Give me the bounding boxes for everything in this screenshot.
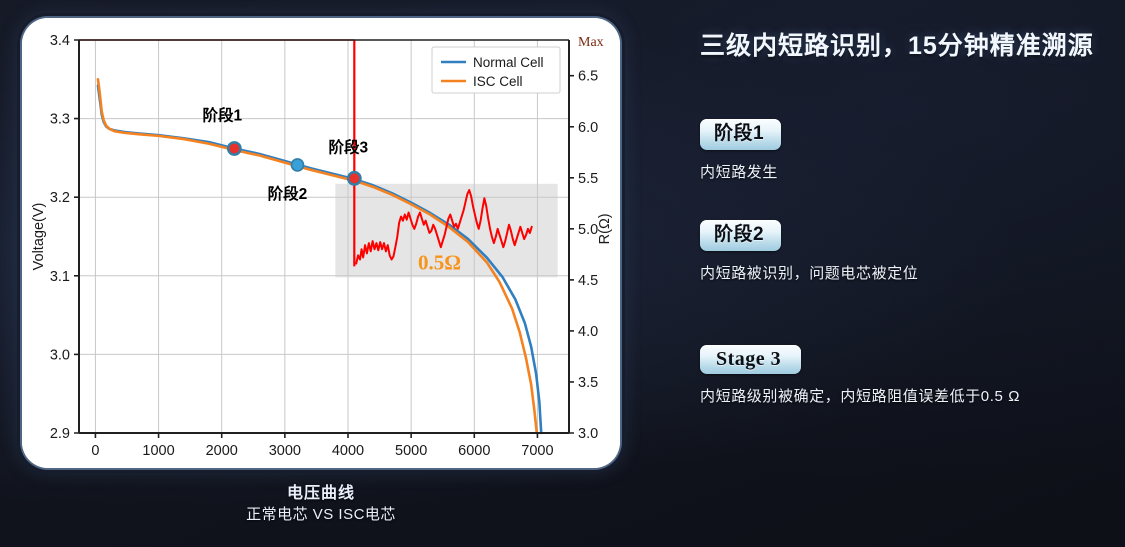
axis-tick-label-voltage: 3.1	[50, 269, 70, 285]
stage-marker-stage2	[291, 159, 303, 171]
step-stage-3: Stage 3 内短路级别被确定，内短路阻值误差低于0.5 Ω	[700, 345, 1020, 406]
stage-marker-stage3	[348, 172, 360, 184]
stage-annotation-label-stage3: 阶段3	[328, 137, 368, 156]
axis-tick-label-voltage: 3.3	[50, 112, 70, 128]
legend-label-1: Normal Cell	[473, 55, 544, 70]
axis-tick-label-voltage: 3.0	[50, 347, 70, 363]
axis-tick-label-time: 6000	[458, 443, 490, 459]
axis-tick-label-resistance: 4.5	[578, 273, 598, 289]
axis-label-max: Max	[578, 35, 604, 50]
info-panel: 三级内短路识别，15分钟精准溯源 阶段1 内短路发生 阶段2 内短路被识别，问题…	[640, 0, 1125, 547]
axis-tick-label-time: 5000	[395, 443, 427, 459]
axis-tick-label-resistance: 5.0	[578, 222, 598, 238]
stage-1-badge: 阶段1	[700, 119, 781, 150]
axis-tick-label-voltage: 2.9	[50, 426, 70, 442]
chart-caption: 电压曲线 正常电芯 VS ISC电芯	[22, 484, 620, 526]
caption-line-1: 电压曲线	[22, 484, 620, 504]
axis-title-y-resistance: R(Ω)	[597, 213, 613, 244]
stage-2-badge: 阶段2	[700, 220, 781, 251]
resistance-value-annotation: 0.5Ω	[418, 251, 461, 275]
axis-tick-label-time: 0	[91, 443, 99, 459]
stage-marker-stage1	[228, 142, 240, 154]
axis-tick-label-time: 1000	[142, 443, 174, 459]
chart-card: 2.93.03.13.23.33.43.03.54.04.55.05.56.06…	[22, 18, 620, 468]
step-stage-2: 阶段2 内短路被识别，问题电芯被定位	[700, 220, 918, 283]
axis-title-y-voltage: Voltage(V)	[31, 203, 47, 271]
stage-1-description: 内短路发生	[700, 161, 781, 182]
axis-tick-label-time: 2000	[206, 443, 238, 459]
step-stage-1: 阶段1 内短路发生	[700, 119, 781, 182]
axis-tick-label-time: 7000	[521, 443, 553, 459]
chart-plot-area: 2.93.03.13.23.33.43.03.54.04.55.05.56.06…	[22, 18, 620, 468]
legend-label-2: ISC Cell	[473, 74, 523, 89]
axis-tick-label-voltage: 3.2	[50, 190, 70, 206]
axis-tick-label-resistance: 6.5	[578, 69, 598, 85]
stage-annotation-label-stage1: 阶段1	[203, 105, 243, 124]
axis-tick-label-resistance: 3.0	[578, 426, 598, 442]
panel-title: 三级内短路识别，15分钟精准溯源	[700, 26, 1094, 62]
stage-3-badge: Stage 3	[700, 345, 801, 374]
axis-tick-label-resistance: 3.5	[578, 375, 598, 391]
axis-tick-label-resistance: 4.0	[578, 324, 598, 340]
axis-tick-label-voltage: 3.4	[50, 33, 70, 49]
stage-2-description: 内短路被识别，问题电芯被定位	[700, 262, 918, 283]
axis-tick-label-resistance: 5.5	[578, 171, 598, 187]
axis-tick-label-time: 4000	[332, 443, 364, 459]
axis-tick-label-resistance: 6.0	[578, 120, 598, 136]
stage-3-description: 内短路级别被确定，内短路阻值误差低于0.5 Ω	[700, 385, 1020, 406]
caption-line-2: 正常电芯 VS ISC电芯	[22, 504, 620, 526]
stage-annotation-label-stage2: 阶段2	[268, 184, 308, 203]
voltage-resistance-chart: 2.93.03.13.23.33.43.03.54.04.55.05.56.06…	[22, 18, 620, 468]
axis-tick-label-time: 3000	[269, 443, 301, 459]
